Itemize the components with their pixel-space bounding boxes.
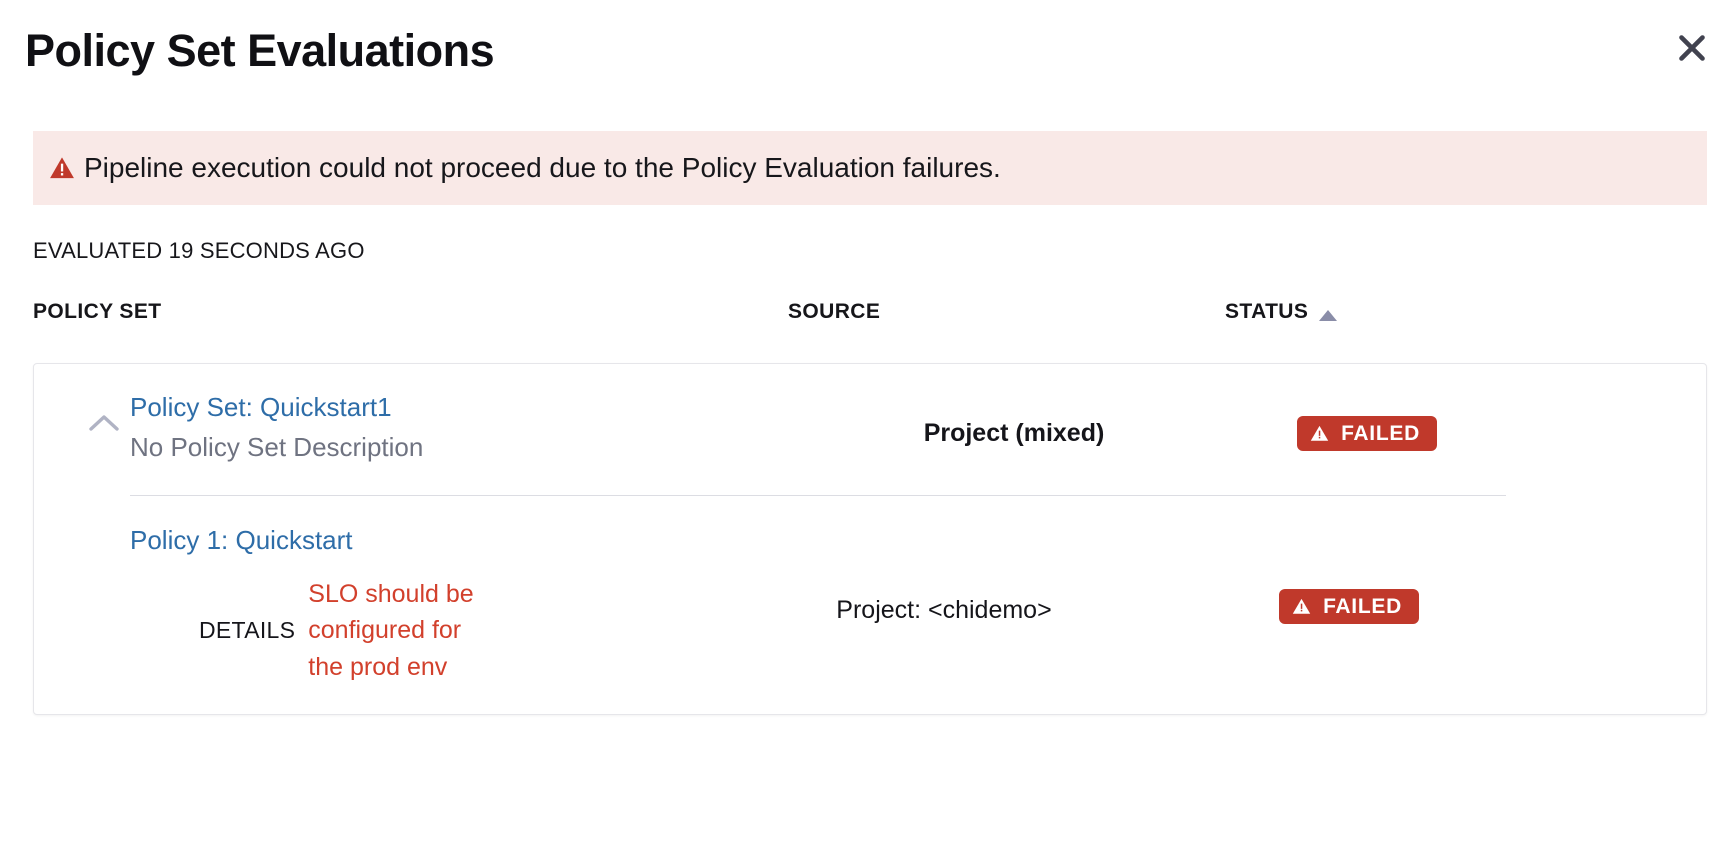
policy-set-name-cell: Policy Set: Quickstart1 No Policy Set De… bbox=[130, 391, 423, 465]
column-header-status-label: STATUS bbox=[1225, 300, 1308, 324]
error-banner-message: Pipeline execution could not proceed due… bbox=[84, 151, 1001, 185]
policy-set-description: No Policy Set Description bbox=[130, 431, 423, 465]
status-badge-label: FAILED bbox=[1323, 596, 1402, 617]
warning-triangle-icon bbox=[49, 155, 75, 181]
policy-set-source: Project (mixed) bbox=[824, 419, 1204, 448]
policy-status-cell: FAILED bbox=[1204, 589, 1494, 624]
policy-evaluations-card: Policy Set: Quickstart1 No Policy Set De… bbox=[33, 363, 1707, 715]
page-title: Policy Set Evaluations bbox=[25, 26, 494, 76]
details-text: SLO should be configured for the prod en… bbox=[308, 576, 483, 685]
column-header-source[interactable]: SOURCE bbox=[788, 300, 880, 324]
details-label: DETAILS bbox=[199, 617, 295, 644]
policy-set-status-cell: FAILED bbox=[1222, 416, 1512, 451]
status-badge[interactable]: FAILED bbox=[1279, 589, 1419, 624]
status-badge-label: FAILED bbox=[1341, 423, 1420, 444]
policy-set-row: Policy Set: Quickstart1 No Policy Set De… bbox=[34, 364, 1706, 494]
column-header-status[interactable]: STATUS bbox=[1225, 300, 1337, 324]
chevron-up-icon[interactable] bbox=[87, 408, 121, 438]
policy-source: Project: <chidemo> bbox=[734, 596, 1154, 625]
dialog-header: Policy Set Evaluations bbox=[0, 0, 1734, 110]
sort-ascending-arrow-icon bbox=[1319, 310, 1337, 321]
policy-link[interactable]: Policy 1: Quickstart bbox=[130, 524, 353, 558]
status-badge[interactable]: FAILED bbox=[1297, 416, 1437, 451]
table-header-row: POLICY SET SOURCE STATUS bbox=[0, 300, 1734, 340]
policy-name-cell: Policy 1: Quickstart bbox=[130, 524, 353, 558]
close-button[interactable] bbox=[1668, 24, 1716, 72]
evaluated-timestamp: EVALUATED 19 SECONDS AGO bbox=[33, 238, 365, 264]
warning-triangle-icon bbox=[1292, 597, 1311, 616]
policy-set-link[interactable]: Policy Set: Quickstart1 bbox=[130, 391, 423, 425]
close-icon bbox=[1675, 31, 1709, 65]
column-header-policy-set[interactable]: POLICY SET bbox=[33, 300, 161, 324]
error-banner: Pipeline execution could not proceed due… bbox=[33, 131, 1707, 205]
policy-row: Policy 1: Quickstart DETAILS SLO should … bbox=[34, 496, 1706, 715]
warning-triangle-icon bbox=[1310, 424, 1329, 443]
policy-details: DETAILS SLO should be configured for the… bbox=[199, 576, 483, 685]
